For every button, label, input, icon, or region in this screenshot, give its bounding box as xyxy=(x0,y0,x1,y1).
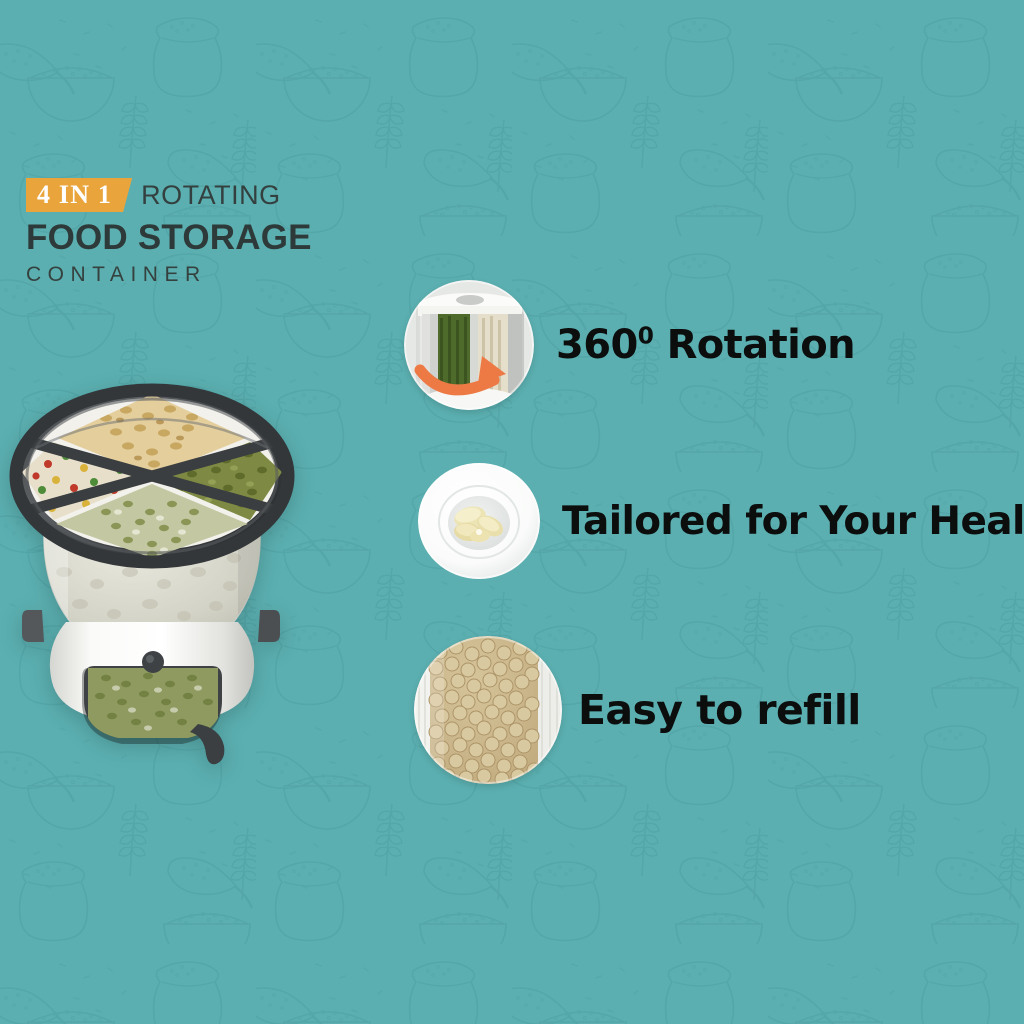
container-rotation-photo xyxy=(404,280,534,410)
feature-item-health: Tailored for Your Health xyxy=(418,460,1024,582)
badge-4-in-1: 4 IN 1 xyxy=(26,178,132,212)
title-food-storage: FOOD STORAGE xyxy=(26,216,426,260)
title-container: CONTAINER xyxy=(26,261,426,289)
degree-symbol: 0 xyxy=(638,323,654,350)
feature-item-rotation: 3600 Rotation xyxy=(404,280,855,410)
feature-item-refill: Easy to refill xyxy=(414,636,861,784)
product-infographic-poster: 4 IN 1 ROTATING FOOD STORAGE CONTAINER xyxy=(0,0,1024,1024)
garlic-on-plate-photo xyxy=(418,460,540,582)
feature-rotation-word: Rotation xyxy=(653,322,855,368)
product-photo xyxy=(2,372,302,772)
title-word-rotating: ROTATING xyxy=(141,178,281,212)
feature-label-refill: Easy to refill xyxy=(578,686,861,734)
title-line-one: 4 IN 1 ROTATING xyxy=(26,178,426,212)
feature-label-health: Tailored for Your Health xyxy=(562,499,1024,544)
feature-label-rotation: 3600 Rotation xyxy=(556,322,855,368)
chickpeas-container-photo xyxy=(414,636,562,784)
feature-rotation-number: 360 xyxy=(556,322,638,368)
title-block: 4 IN 1 ROTATING FOOD STORAGE CONTAINER xyxy=(26,178,426,289)
